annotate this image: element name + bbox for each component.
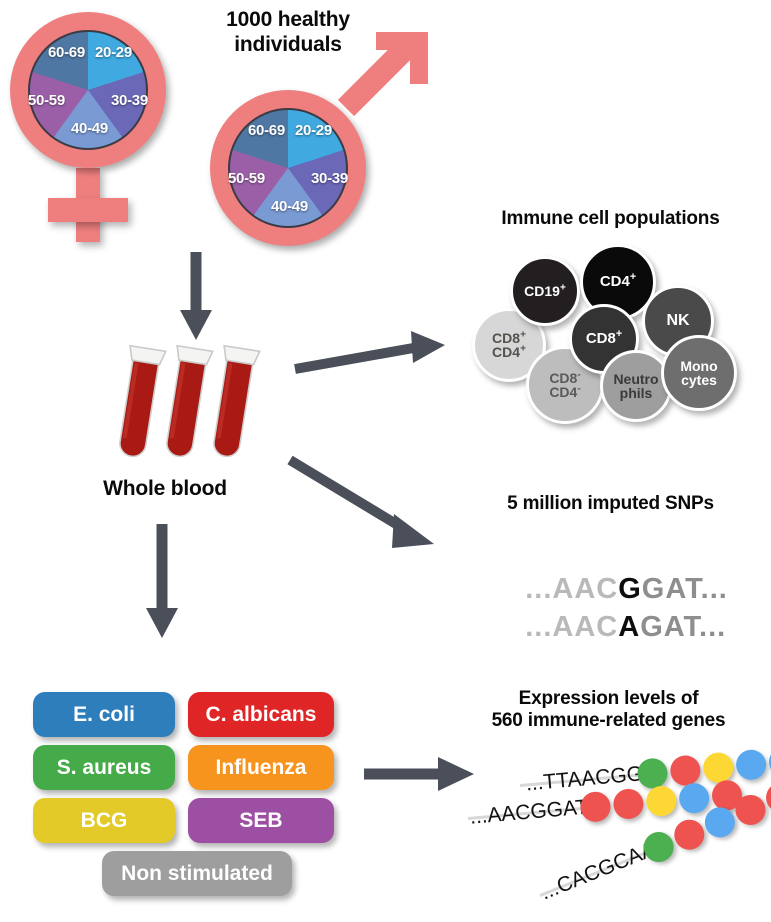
immune-cell-monocytes: Monocytes — [661, 335, 737, 411]
stimulus-box-bcg[interactable]: BCG — [33, 798, 175, 843]
strand-sequence: ...CACGCAA — [537, 838, 659, 906]
pie-label-50-59-m: 50-59 — [228, 170, 265, 187]
immune-cell-label: Neutrophils — [613, 372, 658, 401]
snp-sequence-row-2: ...AACAGAT... — [489, 578, 726, 677]
arrow-blood-to-stimuli — [137, 524, 187, 644]
stimulus-label: Influenza — [215, 756, 306, 780]
pie-label-20-29-m: 20-29 — [295, 122, 332, 139]
immune-cell-label: NK — [666, 313, 689, 329]
pie-label-20-29-f: 20-29 — [95, 44, 132, 61]
blood-tube-3 — [204, 340, 264, 470]
immune-cell-label: CD8-CD4- — [549, 371, 580, 400]
snps-title: 5 million imputed SNPs — [450, 493, 771, 515]
immune-cell-cd19plus: CD19+ — [510, 256, 580, 326]
stimulus-box-e-coli[interactable]: E. coli — [33, 692, 175, 737]
snp-row2-prefix: ...AAC — [525, 611, 618, 643]
stimulus-label: C. albicans — [206, 703, 317, 727]
expression-title: Expression levels of 560 immune-related … — [446, 688, 771, 733]
stimulus-box-c-albicans[interactable]: C. albicans — [188, 692, 334, 737]
strand-sequence: ...AACGGAT — [469, 796, 589, 830]
pie-label-60-69-f: 60-69 — [48, 44, 85, 61]
stimulus-box-non-stimulated[interactable]: Non stimulated — [102, 851, 292, 896]
gene-bead — [700, 803, 739, 842]
stimulus-label: Non stimulated — [121, 862, 273, 886]
immune-cell-label: CD19+ — [524, 284, 566, 298]
gene-bead — [670, 815, 709, 854]
stimulus-label: BCG — [81, 809, 128, 833]
figure-canvas: 60-69 20-29 30-39 40-49 50-59 1000 healt… — [0, 0, 771, 922]
pie-label-30-39-f: 30-39 — [111, 92, 148, 109]
immune-cell-label: CD4+ — [600, 274, 636, 289]
female-symbol-crossbar — [48, 198, 128, 222]
pie-label-40-49-m: 40-49 — [271, 198, 308, 215]
immune-cell-label: CD8+ — [586, 331, 622, 346]
stimulus-box-influenza[interactable]: Influenza — [188, 745, 334, 790]
arrow-blood-to-snps — [288, 448, 448, 558]
pie-label-60-69-m: 60-69 — [248, 122, 285, 139]
stimulus-box-s-aureus[interactable]: S. aureus — [33, 745, 175, 790]
whole-blood-label: Whole blood — [80, 477, 250, 502]
gene-bead — [612, 788, 645, 821]
immune-cell-label: CD8+CD4+ — [492, 331, 526, 360]
snp-row2-allele: A — [618, 611, 640, 643]
arrow-blood-to-immune — [293, 325, 453, 385]
stimulus-label: SEB — [239, 809, 282, 833]
stimulus-label: S. aureus — [57, 756, 152, 780]
snp-row2-suffix: GAT... — [640, 611, 726, 643]
pie-label-40-49-f: 40-49 — [71, 120, 108, 137]
arrow-stimuli-to-expression — [362, 752, 482, 796]
gene-bead — [731, 790, 770, 829]
stimulus-box-seb[interactable]: SEB — [188, 798, 334, 843]
arrow-cohort-to-blood — [171, 252, 221, 342]
immune-cell-label: Monocytes — [680, 359, 717, 388]
immune-cell-neutrophils: Neutrophils — [600, 350, 672, 422]
immune-title: Immune cell populations — [450, 208, 771, 230]
stimulus-label: E. coli — [73, 703, 135, 727]
pie-label-50-59-f: 50-59 — [28, 92, 65, 109]
gene-bead — [645, 785, 678, 818]
pie-label-30-39-m: 30-39 — [311, 170, 348, 187]
